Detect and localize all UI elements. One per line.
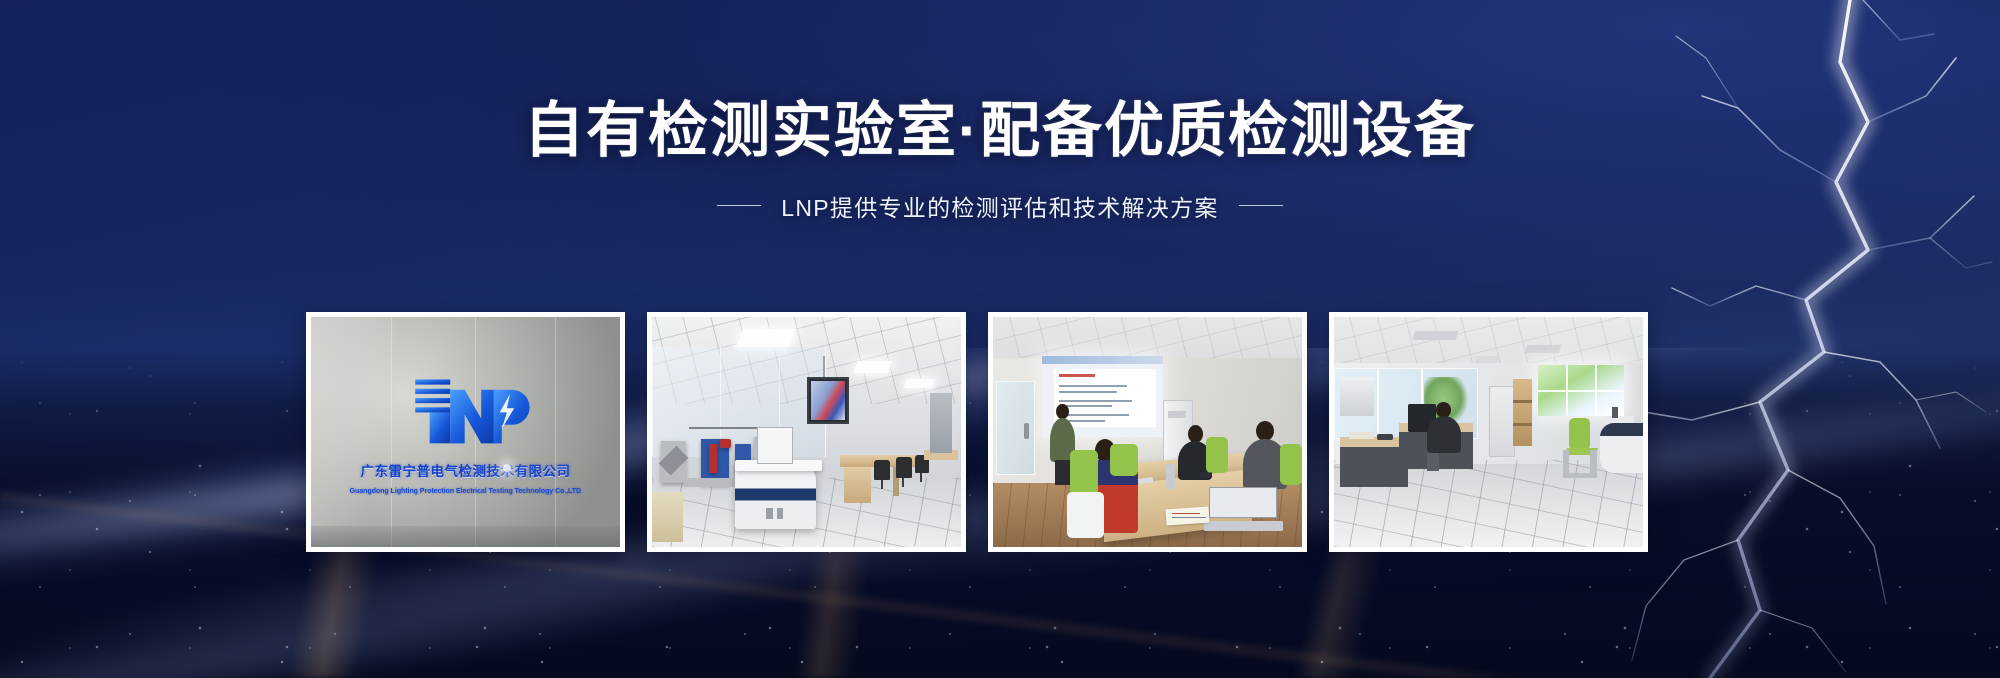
reception-counter xyxy=(1600,423,1643,474)
headline-block: 自有检测实验室·配备优质检测设备 LNP提供专业的检测评估和技术解决方案 xyxy=(0,96,2000,223)
page-subtitle: LNP提供专业的检测评估和技术解决方案 xyxy=(781,189,1218,223)
visitor-chair-a xyxy=(1569,418,1591,450)
page-title: 自有检测实验室·配备优质检测设备 xyxy=(0,96,2000,167)
thermos-flask xyxy=(1166,464,1175,489)
subtitle-rule-left xyxy=(717,205,761,206)
floor-ac-unit xyxy=(1489,386,1516,457)
worker-body xyxy=(1427,416,1461,453)
ceiling-reflection-glare xyxy=(503,464,511,472)
photo-gallery-strip: 广东雷宁普电气检测技术有限公司 Guangdong Lighting Prote… xyxy=(306,312,1648,552)
gallery-photo-testing-laboratory[interactable] xyxy=(647,312,966,552)
sign-caption-english: Guangdong Lighting Protection Electrical… xyxy=(314,488,617,495)
paper-documents xyxy=(1166,506,1210,525)
gallery-photo-company-logo-sign[interactable]: 广东雷宁普电气检测技术有限公司 Guangdong Lighting Prote… xyxy=(306,312,625,552)
presenter-head xyxy=(1056,404,1068,419)
subtitle-rule-right xyxy=(1239,205,1283,206)
gallery-photo-office-reception-area[interactable] xyxy=(1329,312,1648,552)
laptop xyxy=(1209,487,1277,531)
gallery-photo-meeting-training-room[interactable] xyxy=(988,312,1307,552)
lnp-logo-icon xyxy=(407,370,531,453)
subtitle-row: LNP提供专业的检测评估和技术解决方案 xyxy=(0,189,2000,223)
hero-banner: 自有检测实验室·配备优质检测设备 LNP提供专业的检测评估和技术解决方案 xyxy=(0,0,2000,678)
sign-caption-chinese: 广东雷宁普电气检测技术有限公司 xyxy=(323,460,607,480)
